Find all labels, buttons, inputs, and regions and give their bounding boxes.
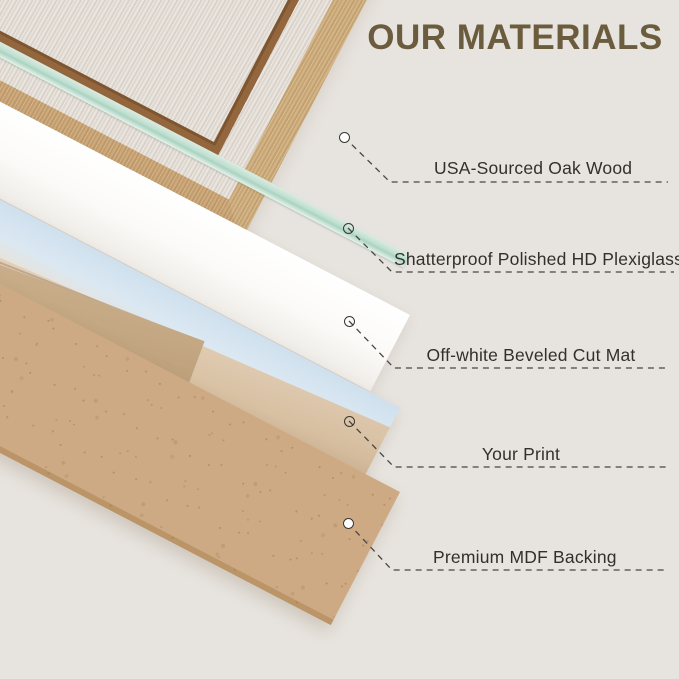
callout-marker-icon[interactable] xyxy=(344,416,355,427)
callout-label: Off-white Beveled Cut Mat xyxy=(427,345,636,366)
callout-marker-icon[interactable] xyxy=(344,316,355,327)
infographic-canvas: OUR MATERIALS USA-Sourced Oak Wood Shatt… xyxy=(0,0,679,679)
callout-label: USA-Sourced Oak Wood xyxy=(434,158,632,179)
callout-list: USA-Sourced Oak Wood Shatterproof Polish… xyxy=(0,0,679,679)
callout-label: Your Print xyxy=(482,444,560,465)
callout-label: Shatterproof Polished HD Plexiglass xyxy=(394,249,679,270)
callout-marker-icon[interactable] xyxy=(343,518,354,529)
callout-label: Premium MDF Backing xyxy=(433,547,617,568)
callout-marker-icon[interactable] xyxy=(343,223,354,234)
callout-marker-icon[interactable] xyxy=(339,132,350,143)
